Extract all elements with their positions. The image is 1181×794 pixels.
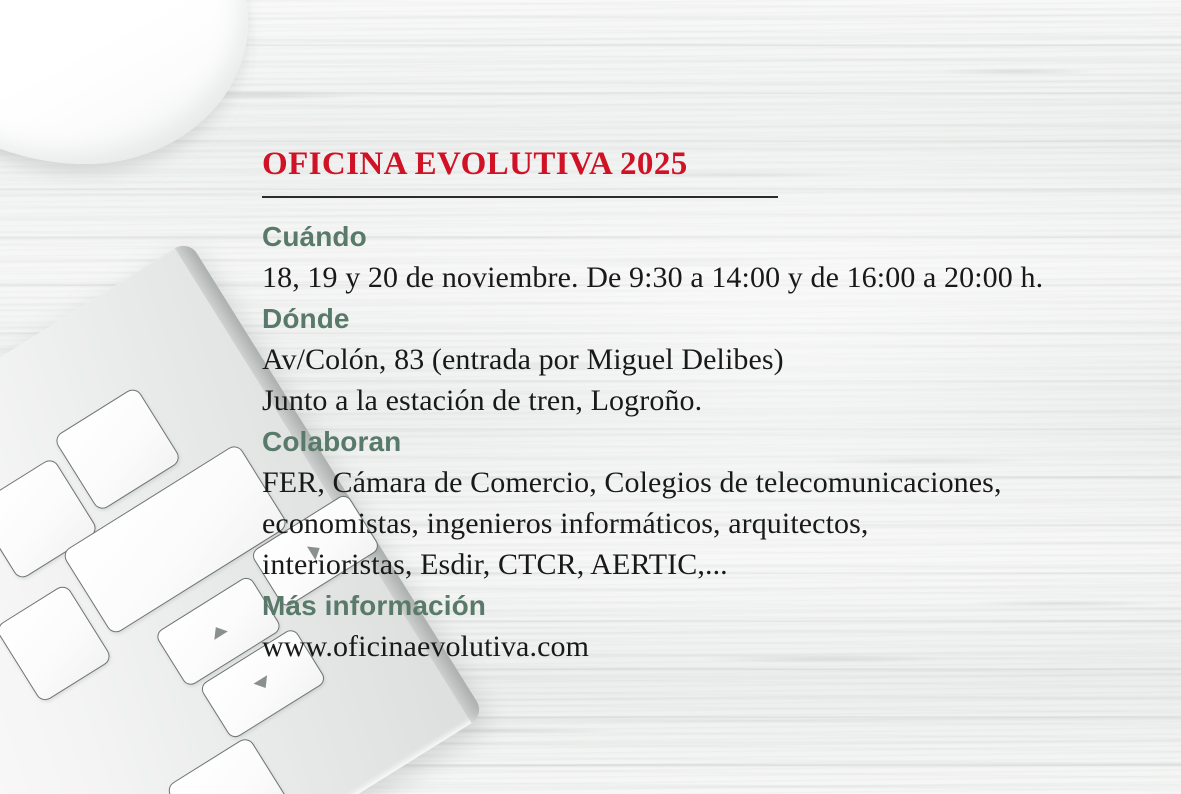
section-donde: Dónde Av/Colón, 83 (entrada por Miguel D… [262,298,1142,421]
section-heading-mas-informacion: Más información [262,585,1142,626]
page-title: OFICINA EVOLUTIVA 2025 [262,146,1142,183]
section-cuando: Cuándo 18, 19 y 20 de noviembre. De 9:30… [262,216,1142,298]
arrow-down-icon [254,675,273,692]
title-divider [262,196,778,198]
section-heading-donde: Dónde [262,298,1142,339]
section-line: economistas, ingenieros informáticos, ar… [262,503,1142,544]
website-url[interactable]: www.oficinaevolutiva.com [262,626,1142,667]
poster-content: OFICINA EVOLUTIVA 2025 Cuándo 18, 19 y 2… [262,146,1142,667]
section-line: 18, 19 y 20 de noviembre. De 9:30 a 14:0… [262,257,1142,298]
section-line: interioristas, Esdir, CTCR, AERTIC,... [262,544,1142,585]
section-line: Av/Colón, 83 (entrada por Miguel Delibes… [262,339,1142,380]
arrow-up-icon [209,623,228,640]
section-mas-informacion: Más información www.oficinaevolutiva.com [262,585,1142,667]
section-line: FER, Cámara de Comercio, Colegios de tel… [262,462,1142,503]
section-colaboran: Colaboran FER, Cámara de Comercio, Coleg… [262,421,1142,585]
section-heading-colaboran: Colaboran [262,421,1142,462]
section-heading-cuando: Cuándo [262,216,1142,257]
poster-canvas: OFICINA EVOLUTIVA 2025 Cuándo 18, 19 y 2… [0,0,1181,794]
section-line: Junto a la estación de tren, Logroño. [262,380,1142,421]
